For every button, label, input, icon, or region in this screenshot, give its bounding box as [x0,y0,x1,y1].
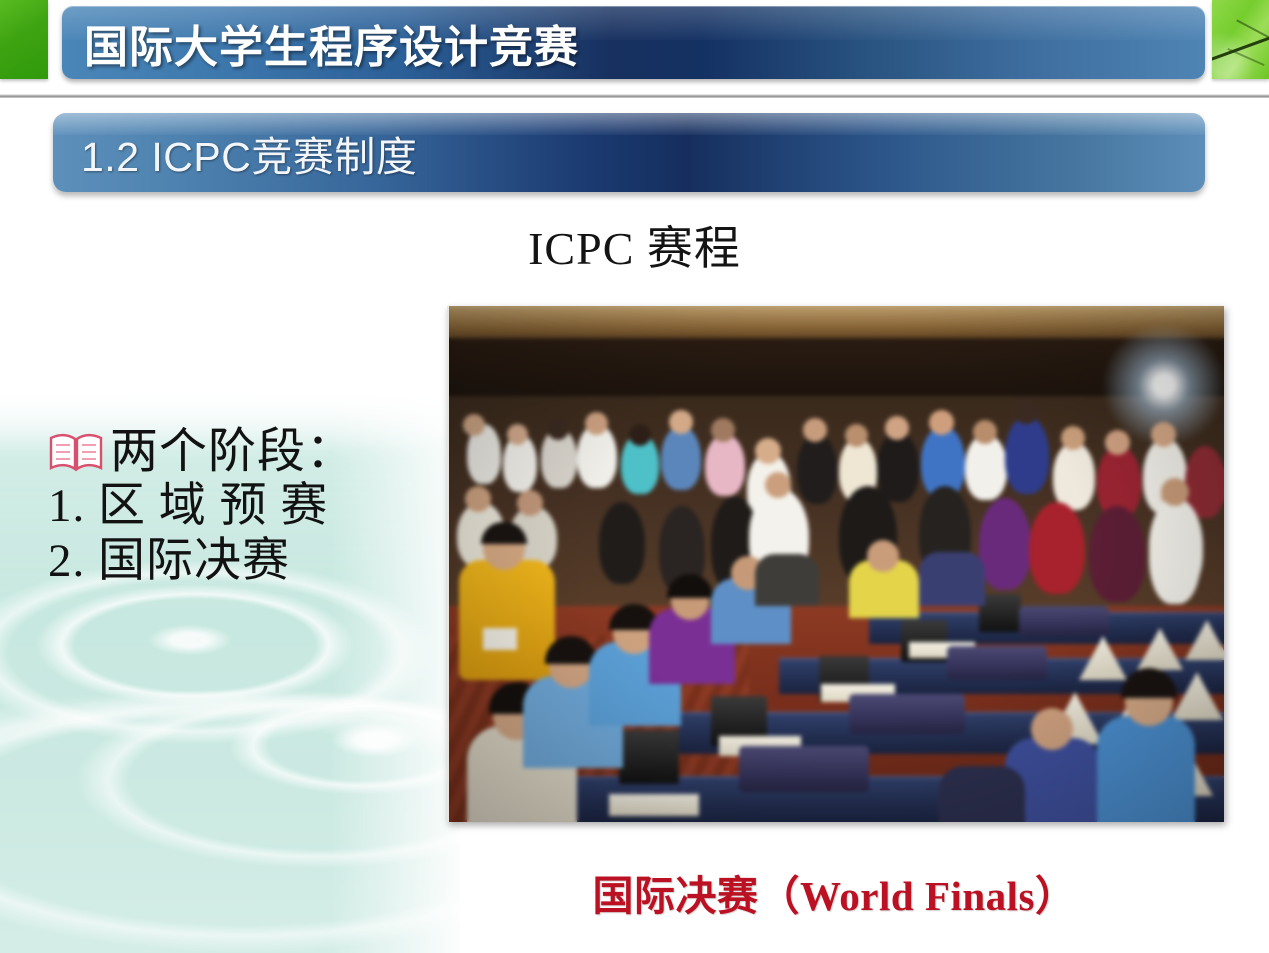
stage-item-label: 2. 国际决赛 [48,534,290,589]
leaf-decoration-icon [1212,0,1269,79]
open-book-icon [48,431,104,473]
header-divider [0,94,1269,98]
photo-caption: 国际决赛（World Finals） [447,862,1222,922]
section-subtitle-bar: 1.2 ICPC竞赛制度 [53,113,1205,192]
stage-item-label: 1. 区 域 预 赛 [48,479,328,534]
section-heading: ICPC 赛程 [0,212,1269,278]
green-corner-block [0,0,48,79]
world-finals-photo [447,306,1224,822]
slide-title-bar: 国际大学生程序设计竞赛 [62,6,1205,79]
stage-item-1: 1. 区 域 预 赛 [48,479,468,534]
stages-lead-line: 两个阶段： [48,425,468,479]
section-subtitle: 1.2 ICPC竞赛制度 [81,123,417,183]
stages-lead-label: 两个阶段： [110,425,355,479]
photo-blur-overlay [449,306,1224,822]
slide-canvas: 国际大学生程序设计竞赛 1.2 ICPC竞赛制度 ICPC 赛程 [0,0,1269,953]
stages-list: 两个阶段： 1. 区 域 预 赛 2. 国际决赛 [48,425,468,590]
stage-item-2: 2. 国际决赛 [48,534,468,589]
page-title: 国际大学生程序设计竞赛 [84,11,579,75]
